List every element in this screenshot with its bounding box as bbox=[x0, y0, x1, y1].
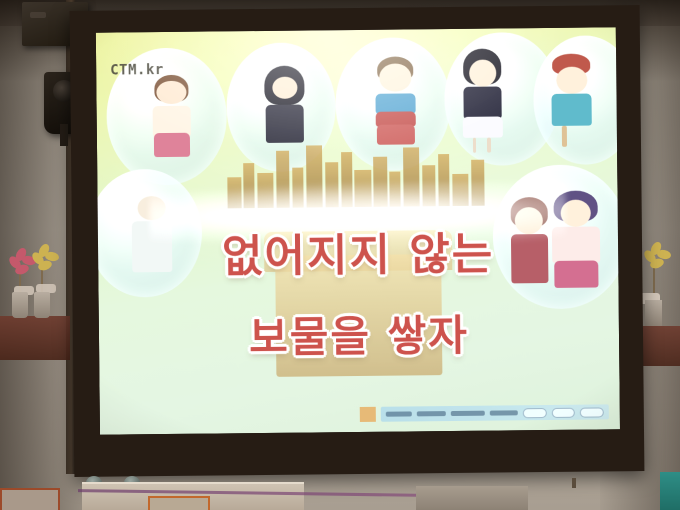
slide-headline-line2: 보물을 쌓자 bbox=[99, 301, 620, 367]
slide-headline-line1: 없어지지 않는 bbox=[98, 216, 619, 285]
paper-flower-right bbox=[641, 244, 671, 272]
projector-screen-surface: CTM.kr 없어지지 않는 보물을 쌓자 bbox=[96, 27, 620, 434]
caption-pill-button[interactable] bbox=[580, 407, 604, 417]
flower-vase bbox=[12, 292, 28, 318]
notice-board-card bbox=[0, 488, 60, 510]
caption-accent bbox=[360, 407, 376, 422]
speaker-bracket bbox=[60, 124, 68, 146]
bubble-top-far-right bbox=[533, 35, 620, 165]
projector-screen-frame: CTM.kr 없어지지 않는 보물을 쌓자 bbox=[70, 5, 645, 477]
teal-strip bbox=[660, 472, 680, 510]
girl-pink-dress bbox=[145, 75, 199, 166]
slide-caption-bar bbox=[381, 404, 610, 421]
presentation-slide: CTM.kr 없어지지 않는 보물을 쌓자 bbox=[96, 27, 620, 434]
caption-pill-button[interactable] bbox=[523, 408, 547, 418]
left-shelf bbox=[0, 316, 70, 360]
flower-vase bbox=[34, 292, 50, 318]
caption-text-block bbox=[386, 411, 412, 416]
caption-text-block bbox=[490, 410, 518, 415]
photo-scene: CTM.kr 없어지지 않는 보물을 쌓자 bbox=[0, 0, 680, 510]
girl-polka-dot-dress bbox=[458, 48, 507, 155]
notice-board-card bbox=[148, 496, 210, 510]
caption-pill-button[interactable] bbox=[551, 407, 575, 417]
flower-vase bbox=[645, 300, 662, 326]
paper-flower-yellow bbox=[29, 246, 59, 274]
caption-text-block bbox=[416, 411, 446, 416]
watermark-label: CTM.kr bbox=[110, 62, 164, 79]
wall-nail bbox=[572, 478, 576, 488]
boy-red-cap bbox=[547, 54, 596, 150]
caption-text-block bbox=[451, 411, 485, 416]
grey-panel bbox=[416, 486, 528, 510]
boy-striped-shirt bbox=[370, 56, 421, 155]
girl-dark-hair bbox=[259, 66, 310, 154]
flower-stem bbox=[653, 268, 655, 296]
